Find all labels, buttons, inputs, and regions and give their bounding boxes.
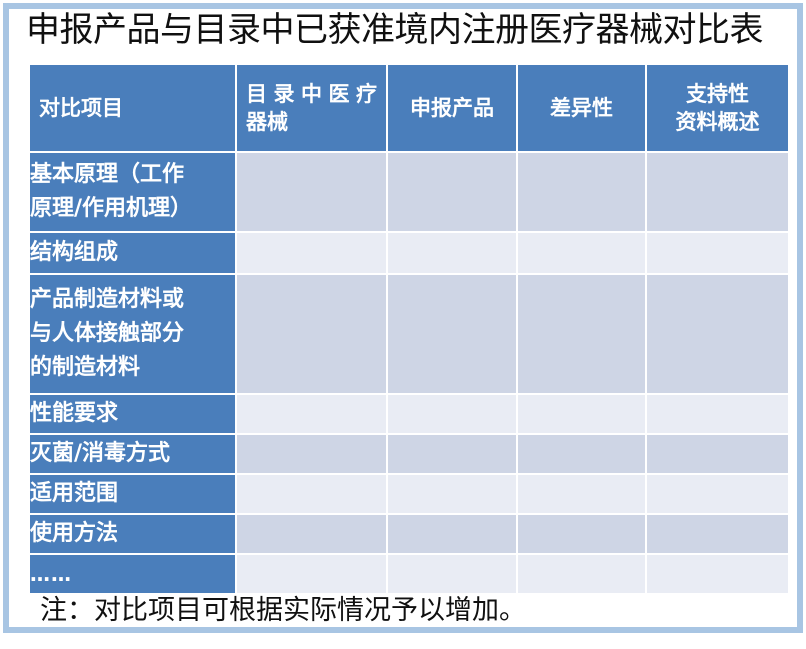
cell-catalog-device-usage-method[interactable] bbox=[237, 515, 386, 553]
row-label-usage-method: 使用方法 bbox=[30, 515, 235, 553]
cell-catalog-device-sterilization-method[interactable] bbox=[237, 435, 386, 473]
column-header-supporting-material-line1: 支持性 bbox=[656, 80, 779, 108]
cell-declared-product-basic-principle[interactable] bbox=[388, 153, 516, 231]
cell-difference-usage-method[interactable] bbox=[518, 515, 645, 553]
row-label-scope-of-application: 适用范围 bbox=[30, 475, 235, 513]
comparison-table: 对比项目 目录中医疗 器械 申报产品 差异性 支持性 资料概述 基本原理（工作 … bbox=[28, 63, 790, 595]
column-header-supporting-material: 支持性 资料概述 bbox=[647, 65, 788, 151]
cell-catalog-device-manufacturing-material[interactable] bbox=[237, 275, 386, 393]
table-row: 基本原理（工作 原理/作用机理） bbox=[30, 153, 788, 231]
cell-difference-manufacturing-material[interactable] bbox=[518, 275, 645, 393]
table-header-row: 对比项目 目录中医疗 器械 申报产品 差异性 支持性 资料概述 bbox=[30, 65, 788, 151]
row-label-basic-principle-line2: 原理/作用机理） bbox=[30, 192, 235, 226]
table-row: 适用范围 bbox=[30, 475, 788, 513]
cell-catalog-device-performance-requirement[interactable] bbox=[237, 395, 386, 433]
cell-supporting-material-basic-principle[interactable] bbox=[647, 153, 788, 231]
cell-supporting-material-manufacturing-material[interactable] bbox=[647, 275, 788, 393]
column-header-catalog-device-line1: 目录中医疗 bbox=[246, 80, 377, 108]
cell-difference-ellipsis[interactable] bbox=[518, 555, 645, 593]
footer-note: 注：对比项目可根据实际情况予以增加。 bbox=[40, 588, 526, 627]
table-row: 结构组成 bbox=[30, 233, 788, 273]
table-row: 灭菌/消毒方式 bbox=[30, 435, 788, 473]
row-label-sterilization-method: 灭菌/消毒方式 bbox=[30, 435, 235, 473]
cell-declared-product-structure-composition[interactable] bbox=[388, 233, 516, 273]
cell-difference-scope-of-application[interactable] bbox=[518, 475, 645, 513]
cell-difference-structure-composition[interactable] bbox=[518, 233, 645, 273]
column-header-difference: 差异性 bbox=[518, 65, 645, 151]
row-label-basic-principle-line1: 基本原理（工作 bbox=[30, 158, 235, 192]
table-row: 产品制造材料或 与人体接触部分 的制造材料 bbox=[30, 275, 788, 393]
cell-catalog-device-structure-composition[interactable] bbox=[237, 233, 386, 273]
cell-difference-basic-principle[interactable] bbox=[518, 153, 645, 231]
column-header-comparison-item: 对比项目 bbox=[30, 65, 235, 151]
column-header-catalog-device-line2: 器械 bbox=[246, 108, 377, 136]
cell-supporting-material-structure-composition[interactable] bbox=[647, 233, 788, 273]
row-label-manufacturing-material-line2: 与人体接触部分 bbox=[30, 317, 235, 351]
cell-declared-product-performance-requirement[interactable] bbox=[388, 395, 516, 433]
table-row: 使用方法 bbox=[30, 515, 788, 553]
cell-difference-performance-requirement[interactable] bbox=[518, 395, 645, 433]
column-header-declared-product: 申报产品 bbox=[388, 65, 516, 151]
table-row: 性能要求 bbox=[30, 395, 788, 433]
slide-page: 申报产品与目录中已获准境内注册医疗器械对比表 对比项目 目录中医疗 器械 申报产… bbox=[0, 0, 806, 649]
row-label-manufacturing-material: 产品制造材料或 与人体接触部分 的制造材料 bbox=[30, 275, 235, 393]
cell-supporting-material-performance-requirement[interactable] bbox=[647, 395, 788, 433]
cell-supporting-material-usage-method[interactable] bbox=[647, 515, 788, 553]
cell-catalog-device-scope-of-application[interactable] bbox=[237, 475, 386, 513]
row-label-manufacturing-material-line3: 的制造材料 bbox=[30, 351, 235, 385]
cell-difference-sterilization-method[interactable] bbox=[518, 435, 645, 473]
cell-supporting-material-sterilization-method[interactable] bbox=[647, 435, 788, 473]
column-header-supporting-material-line2: 资料概述 bbox=[656, 108, 779, 136]
cell-declared-product-scope-of-application[interactable] bbox=[388, 475, 516, 513]
cell-declared-product-sterilization-method[interactable] bbox=[388, 435, 516, 473]
row-label-basic-principle: 基本原理（工作 原理/作用机理） bbox=[30, 153, 235, 231]
row-label-performance-requirement: 性能要求 bbox=[30, 395, 235, 433]
page-title: 申报产品与目录中已获准境内注册医疗器械对比表 bbox=[26, 4, 780, 56]
cell-catalog-device-basic-principle[interactable] bbox=[237, 153, 386, 231]
cell-supporting-material-ellipsis[interactable] bbox=[647, 555, 788, 593]
column-header-catalog-device: 目录中医疗 器械 bbox=[237, 65, 386, 151]
cell-supporting-material-scope-of-application[interactable] bbox=[647, 475, 788, 513]
row-label-manufacturing-material-line1: 产品制造材料或 bbox=[30, 283, 235, 317]
row-label-structure-composition: 结构组成 bbox=[30, 233, 235, 273]
cell-declared-product-manufacturing-material[interactable] bbox=[388, 275, 516, 393]
cell-declared-product-usage-method[interactable] bbox=[388, 515, 516, 553]
